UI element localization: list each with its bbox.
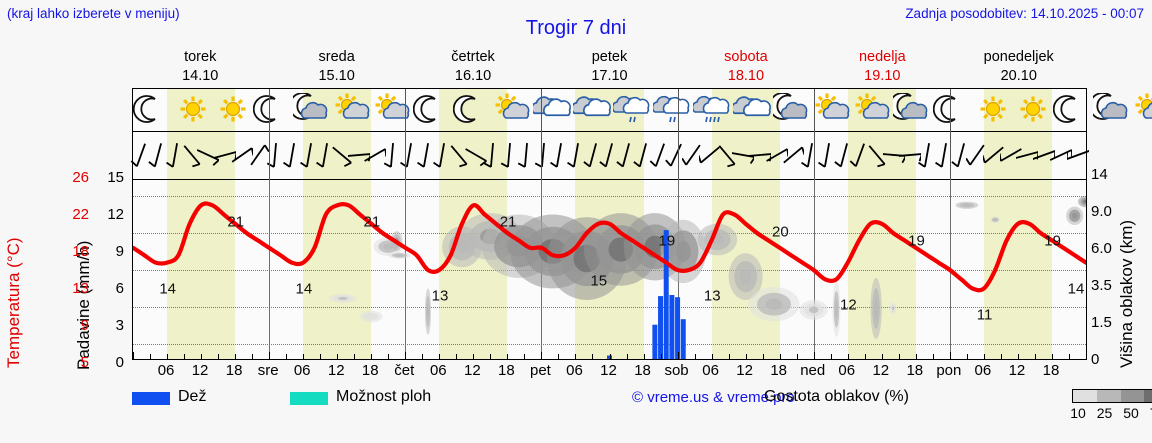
weather-icon-sun [973,89,1013,131]
x-axis-ticks [133,352,1086,359]
temp-label: 15 [590,273,607,290]
cloud-density-step-3 [1144,390,1152,402]
x-tick [337,354,338,359]
x-tick [899,354,900,359]
x-tick [201,354,202,359]
x-tick [882,354,883,359]
cloud-tick-0: 0 [1091,351,1099,368]
x-label: 06 [702,362,719,379]
chart-legend: Dež Možnost ploh © vreme.us & vreme.pro … [132,388,1148,430]
x-tick [575,354,576,359]
x-tick [950,352,951,359]
day-divider-upper-1 [269,89,270,179]
weather-chart-frame: 142114211321151913201219111914 [132,88,1087,360]
x-tick [422,354,423,359]
temp-tick-18: 18 [72,243,89,260]
cloud-density-colorbar [1072,389,1152,403]
temp-label: 20 [772,223,789,240]
precip-bar [664,230,669,359]
x-tick [1052,354,1053,359]
chart-svg [133,179,1086,359]
x-tick [439,354,440,359]
x-tick [967,354,968,359]
day-header-strip: torek14.10sreda15.10četrtek16.10petek17.… [132,48,1087,88]
x-tick [490,354,491,359]
day-name: četrtek [405,48,541,67]
weather-icon-moon [133,89,173,131]
x-tick [678,352,679,359]
weather-icon-cloud [533,89,573,131]
weather-icon-sun-cloud [493,89,533,131]
precip-bar [658,296,663,359]
x-label: 18 [906,362,923,379]
day-date: 17.10 [541,67,677,86]
x-tick [269,352,270,359]
x-tick [848,354,849,359]
x-tick [1069,354,1070,359]
x-label: sre [258,362,279,379]
temp-label: 14 [1068,280,1085,297]
weather-icon-sun [173,89,213,131]
weather-icon-moon [413,89,453,131]
x-tick [354,354,355,359]
x-tick [644,354,645,359]
day-header-2: četrtek16.10 [405,48,541,88]
temp-tick-5: 5 [81,354,89,371]
x-tick [831,354,832,359]
precip-tick-12: 12 [98,206,124,223]
temp-label: 14 [159,280,176,297]
x-label: 12 [192,362,209,379]
cloud-tick-6.0: 6.0 [1091,240,1112,257]
day-divider-upper-2 [405,89,406,179]
weather-icon-cloud [733,89,773,131]
x-tick [167,354,168,359]
weather-icon-cloud-rain-heavy [693,89,733,131]
x-tick [933,354,934,359]
temp-tick-26: 26 [72,169,89,186]
x-label: 06 [566,362,583,379]
cloud-density-step-0 [1073,390,1097,402]
day-header-3: petek17.10 [541,48,677,88]
x-tick [729,354,730,359]
cloud-density-legend-title: Gostota oblakov (%) [764,388,909,406]
weather-icon-cloud-rain [613,89,653,131]
last-updated-label: Zadnja posodobitev: 14.10.2025 - 00:07 [905,6,1144,21]
temp-label: 21 [227,214,244,231]
day-divider-upper-5 [814,89,815,179]
temp-label: 21 [500,214,517,231]
x-tick [286,354,287,359]
precip-bar [675,297,680,359]
x-label: 12 [464,362,481,379]
temp-label: 11 [977,306,993,323]
x-label: 18 [770,362,787,379]
x-tick [524,354,525,359]
x-label: čet [394,362,414,379]
x-label: pon [936,362,961,379]
x-tick [184,354,185,359]
wind-barb-row [133,131,1086,179]
precip-tick-3: 3 [98,317,124,334]
showers-legend-swatch [290,392,328,405]
day-header-4: sobota18.10 [678,48,814,88]
x-label: ned [800,362,825,379]
x-tick [780,354,781,359]
x-tick [814,352,815,359]
weather-icon-moon-cloud [773,89,813,131]
x-tick [797,354,798,359]
temp-label: 12 [840,297,857,314]
chart-plot-area: 142114211321151913201219111914 [133,179,1086,359]
x-tick [235,354,236,359]
weather-icon-moon-cloud [893,89,933,131]
day-header-5: nedelja19.10 [814,48,950,88]
precip-tick-0: 0 [98,354,124,371]
x-tick [592,354,593,359]
x-label: pet [530,362,551,379]
temp-label: 19 [659,232,676,249]
temp-label: 19 [1044,232,1061,249]
cloud-density-step-2 [1121,390,1145,402]
temp-label: 21 [364,214,381,231]
cloud-density-tick-10: 10 [1070,405,1086,421]
x-tick [661,354,662,359]
temp-label: 14 [295,280,312,297]
x-label: 12 [872,362,889,379]
x-label: 18 [226,362,243,379]
day-name: sreda [268,48,404,67]
weather-icon-moon [453,89,493,131]
precip-tick-15: 15 [98,169,124,186]
x-label: 12 [1009,362,1026,379]
cloud-tick-1.5: 1.5 [1091,314,1112,331]
precip-tick-6: 6 [98,280,124,297]
day-header-0: torek14.10 [132,48,268,88]
x-tick [133,352,134,359]
weather-icon-moon-cloud [1093,89,1133,131]
x-tick [388,354,389,359]
weather-icon-moon [1053,89,1093,131]
x-tick [1035,354,1036,359]
x-tick [865,354,866,359]
weather-icon-moon [933,89,973,131]
weather-icon-sun [1013,89,1053,131]
cloud-density-colorbar-ticks: 1025507590100 [1068,405,1152,423]
x-tick [763,354,764,359]
x-tick [303,354,304,359]
x-label: 12 [328,362,345,379]
x-tick [746,354,747,359]
cloud-tick-14: 14 [1091,166,1108,183]
precip-tick-9: 9 [98,243,124,260]
weather-icon-sun-cloud [1133,89,1152,131]
temp-label: 13 [432,288,449,305]
x-label: 06 [430,362,447,379]
x-tick [371,354,372,359]
x-tick [712,354,713,359]
cloud-tick-9.0: 9.0 [1091,203,1112,220]
x-label: 06 [158,362,175,379]
day-date: 15.10 [268,67,404,86]
day-date: 18.10 [678,67,814,86]
x-tick [627,354,628,359]
x-tick [916,354,917,359]
temp-label: 13 [704,288,721,305]
x-label: 18 [634,362,651,379]
weather-icon-sun-cloud [373,89,413,131]
x-tick [507,354,508,359]
temp-tick-22: 22 [72,206,89,223]
cloud-density-step-1 [1097,390,1121,402]
weather-icon-sun-cloud [853,89,893,131]
weather-icon-cloud-rain [653,89,693,131]
day-date: 16.10 [405,67,541,86]
day-date: 20.10 [951,67,1087,86]
day-name: torek [132,48,268,67]
precip-bar [669,295,674,359]
rain-legend-label: Dež [178,388,206,406]
x-axis-tick-labels: 061218sre061218čet061218pet061218sob0612… [132,362,1087,382]
x-label: 12 [736,362,753,379]
cloud-height-axis-title: Višina oblakov (km) [1117,168,1137,368]
day-name: sobota [678,48,814,67]
temperature-axis-title: Temperatura (°C) [4,168,24,368]
temp-label: 19 [908,232,925,249]
day-name: ponedeljek [951,48,1087,67]
x-tick [1001,354,1002,359]
x-tick [984,354,985,359]
precipitation-axis-title: Padavine (mm/h) [74,175,94,370]
day-divider-upper-3 [541,89,542,179]
x-tick [456,354,457,359]
weather-icon-moon [253,89,293,131]
x-label: sob [664,362,688,379]
rain-legend-swatch [132,392,170,405]
weather-icon-sun [213,89,253,131]
x-tick [252,354,253,359]
x-tick [558,354,559,359]
weather-icon-sun-cloud [333,89,373,131]
day-divider-upper-6 [950,89,951,179]
day-header-1: sreda15.10 [268,48,404,88]
x-tick [218,354,219,359]
day-date: 14.10 [132,67,268,86]
weather-icon-row [133,89,1086,131]
x-tick [610,354,611,359]
x-label: 06 [838,362,855,379]
x-label: 12 [600,362,617,379]
cloud-density-tick-50: 50 [1123,405,1139,421]
x-tick [541,352,542,359]
temp-tick-13: 13 [72,280,89,297]
day-name: petek [541,48,677,67]
x-tick [320,354,321,359]
showers-legend-label: Možnost ploh [336,388,431,406]
x-tick [405,352,406,359]
x-tick [150,354,151,359]
x-label: 18 [498,362,515,379]
x-label: 06 [294,362,311,379]
x-tick [1018,354,1019,359]
day-divider-upper-4 [678,89,679,179]
x-label: 06 [975,362,992,379]
day-date: 19.10 [814,67,950,86]
weather-icon-moon-cloud [293,89,333,131]
day-name: nedelja [814,48,950,67]
weather-icon-cloud [573,89,613,131]
weather-icon-sun-cloud [813,89,853,131]
x-tick [473,354,474,359]
x-tick [695,354,696,359]
x-label: 18 [1043,362,1060,379]
wind-barb [1069,131,1086,179]
cloud-tick-3.5: 3.5 [1091,277,1112,294]
x-label: 18 [362,362,379,379]
cloud-density-tick-25: 25 [1097,405,1113,421]
day-header-6: ponedeljek20.10 [951,48,1087,88]
temp-tick-9: 9 [81,317,89,334]
